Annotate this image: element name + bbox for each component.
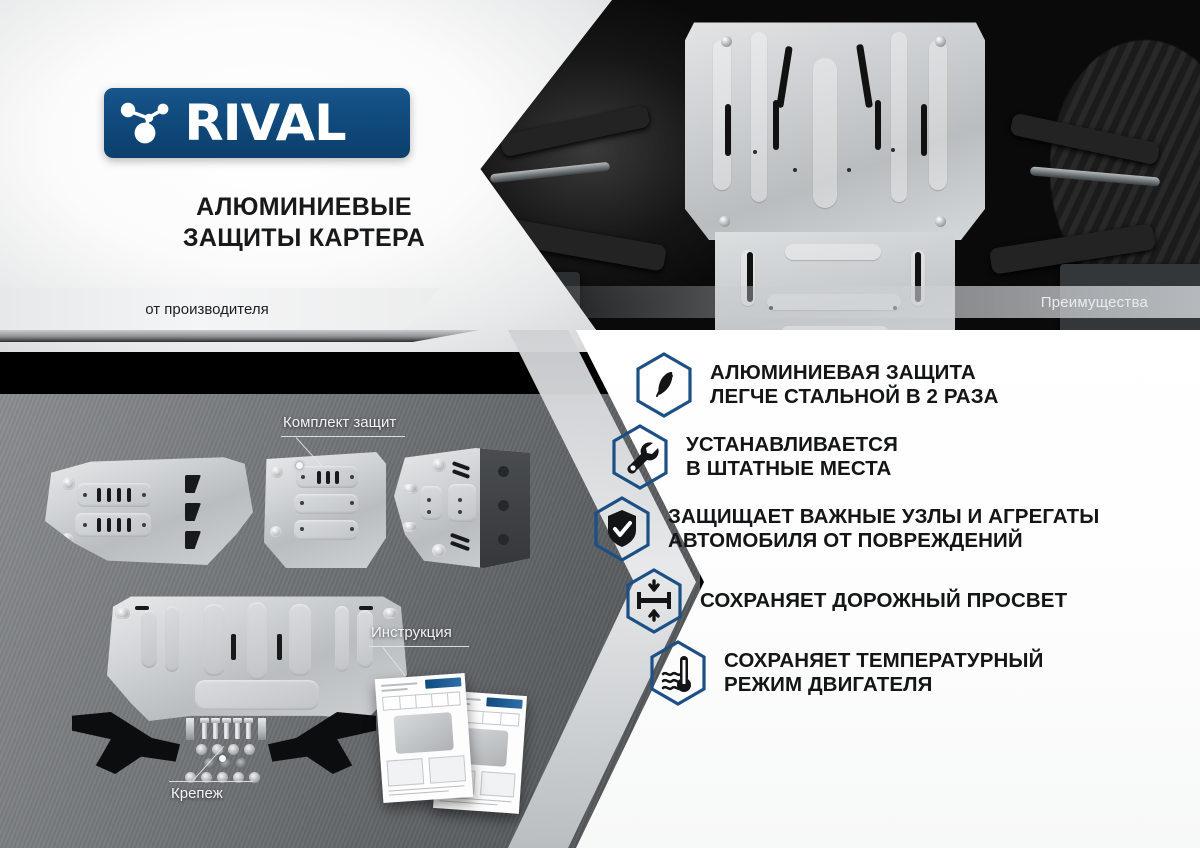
hero-separator (0, 330, 480, 342)
subtitle-band: от производителя (0, 288, 440, 330)
thermometer-icon (648, 640, 708, 706)
skid-plate-main (107, 594, 407, 721)
brand-logo[interactable]: RIVAL (104, 88, 410, 158)
poster-canvas: Преимущества RIVAL АЛЮМИНИЕВЫЕ ЗАЩИТЫ КА… (0, 0, 1200, 848)
skid-plate-2 (264, 452, 386, 568)
feature-text-temperature: СОХРАНЯЕТ ТЕМПЕРАТУРНЫЙ РЕЖИМ ДВИГАТЕЛЯ (724, 649, 1043, 697)
callout-label-set: Комплект защит (283, 414, 396, 431)
installed-skid-plate-upper (685, 18, 985, 240)
brand-name: RIVAL (184, 98, 345, 148)
ground-clearance-icon (624, 568, 684, 634)
callout-rule-instruction (369, 646, 469, 647)
feather-icon (634, 352, 694, 418)
callout-point-fasteners (219, 755, 226, 762)
advantages-list: АЛЮМИНИЕВАЯ ЗАЩИТА ЛЕГЧЕ СТАЛЬНОЙ В 2 РА… (634, 352, 1200, 712)
advantages-label: Преимущества (1041, 294, 1148, 311)
shield-check-icon (592, 496, 652, 562)
feature-item-install: УСТАНАВЛИВАЕТСЯ В ШТАТНЫЕ МЕСТА (610, 424, 1200, 490)
page-title: АЛЮМИНИЕВЫЕ ЗАЩИТЫ КАРТЕРА (104, 192, 504, 254)
feature-text-install: УСТАНАВЛИВАЕТСЯ В ШТАТНЫЕ МЕСТА (686, 433, 898, 481)
feature-item-protect: ЗАЩИЩАЕТ ВАЖНЫЕ УЗЛЫ И АГРЕГАТЫ АВТОМОБИ… (592, 496, 1200, 562)
molecule-icon (118, 98, 176, 148)
feature-item-weight: АЛЮМИНИЕВАЯ ЗАЩИТА ЛЕГЧЕ СТАЛЬНОЙ В 2 РА… (634, 352, 1200, 418)
wrench-icon (610, 424, 670, 490)
instruction-sheet-front (375, 673, 473, 803)
callout-label-instruction: Инструкция (371, 624, 452, 641)
feature-text-clearance: СОХРАНЯЕТ ДОРОЖНЫЙ ПРОСВЕТ (700, 589, 1067, 613)
hero-title-line1: АЛЮМИНИЕВЫЕ (104, 192, 504, 223)
callout-rule-fasteners (169, 781, 253, 782)
hero-subtitle: от производителя (145, 301, 294, 318)
feature-text-protect: ЗАЩИЩАЕТ ВАЖНЫЕ УЗЛЫ И АГРЕГАТЫ АВТОМОБИ… (668, 505, 1099, 553)
feature-item-clearance: СОХРАНЯЕТ ДОРОЖНЫЙ ПРОСВЕТ (624, 568, 1200, 634)
callout-point-set (296, 462, 303, 469)
feature-item-temperature: СОХРАНЯЕТ ТЕМПЕРАТУРНЫЙ РЕЖИМ ДВИГАТЕЛЯ (648, 640, 1200, 706)
tie-rod-left (490, 162, 610, 183)
callout-rule-set (281, 436, 405, 437)
hero-title-line2: ЗАЩИТЫ КАРТЕРА (104, 223, 504, 254)
callout-label-fasteners: Крепеж (171, 785, 223, 802)
feature-text-weight: АЛЮМИНИЕВАЯ ЗАЩИТА ЛЕГЧЕ СТАЛЬНОЙ В 2 РА… (710, 361, 999, 409)
